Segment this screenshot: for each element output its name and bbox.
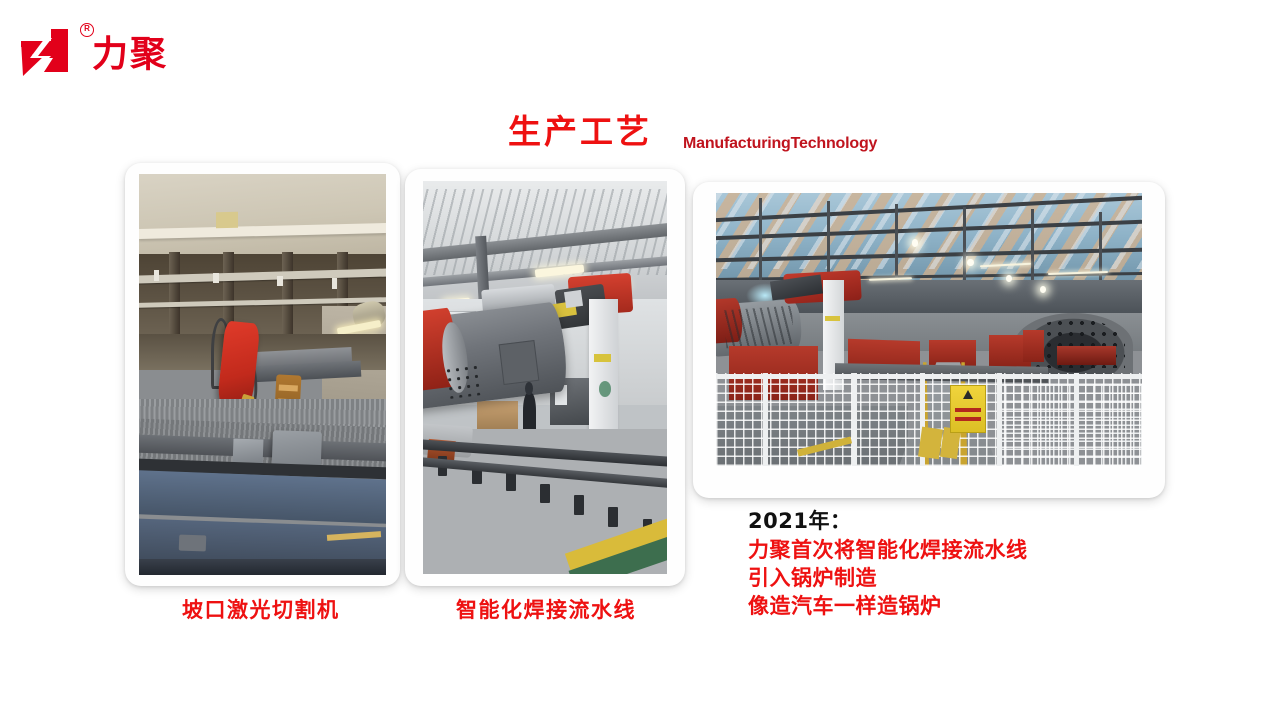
lightning-bolt-logo-icon bbox=[18, 28, 80, 80]
page-subtitle: ManufacturingTechnology bbox=[683, 134, 877, 154]
caption-laser-cutter: 坡口激光切割机 bbox=[182, 597, 340, 623]
photo-card-welding-line-1[interactable] bbox=[405, 169, 685, 586]
brand-logo[interactable]: R 力聚 bbox=[18, 22, 278, 84]
photo-welding-assembly-hall bbox=[716, 193, 1142, 466]
caption-welding-line-1: 智能化焊接流水线 bbox=[456, 597, 636, 623]
photo-laser-cutting-machine bbox=[139, 174, 386, 575]
brand-name: 力聚 bbox=[92, 34, 168, 76]
note-year: 2021年： bbox=[748, 507, 1168, 536]
slide-root: R 力聚 生产工艺 ManufacturingTechnology bbox=[0, 0, 1280, 720]
photo-card-laser-cutter[interactable] bbox=[125, 163, 400, 586]
page-title: 生产工艺 bbox=[508, 113, 652, 151]
photo-welding-production-line bbox=[423, 181, 667, 574]
note-line-3: 像造汽车一样造锅炉 bbox=[748, 592, 1168, 620]
photo-card-welding-line-2[interactable]: 智能化焊接流水线 bbox=[693, 182, 1165, 498]
note-line-2: 引入锅炉制造 bbox=[748, 564, 1168, 592]
note-line-1: 力聚首次将智能化焊接流水线 bbox=[748, 536, 1168, 564]
note-block: 2021年： 力聚首次将智能化焊接流水线 引入锅炉制造 像造汽车一样造锅炉 bbox=[748, 507, 1168, 620]
